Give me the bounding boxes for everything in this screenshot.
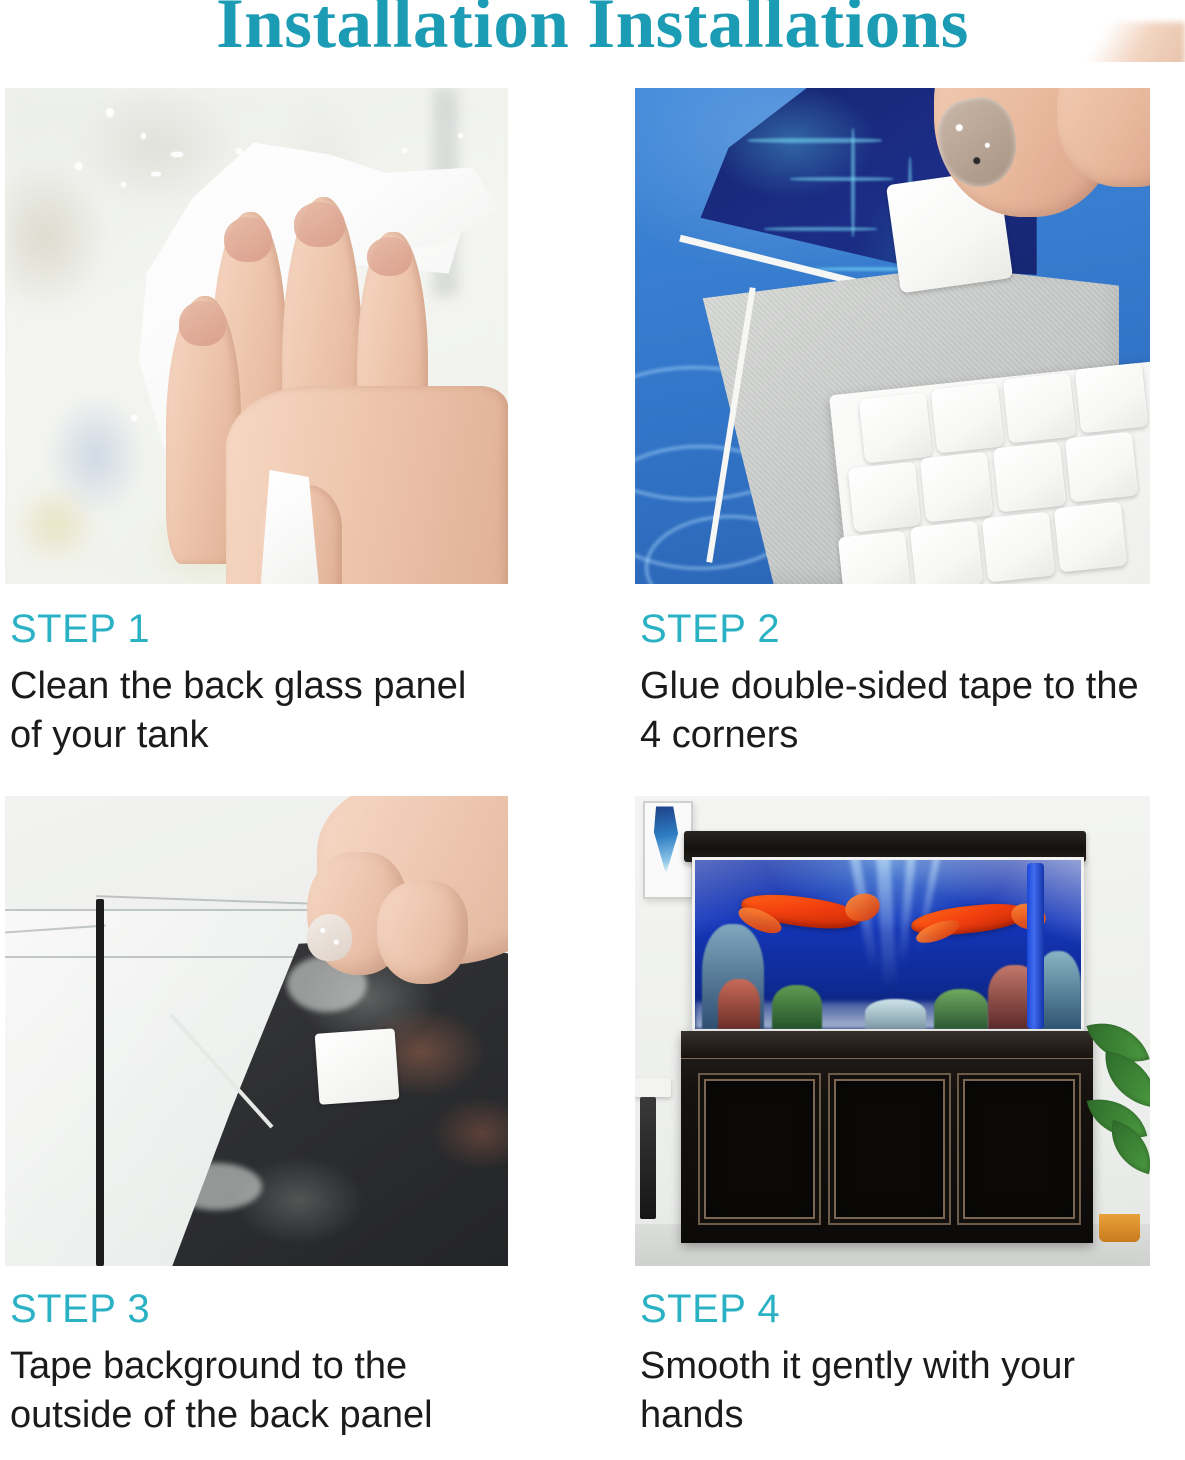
adhesive-pad (920, 452, 993, 523)
tank-waterline (5, 956, 307, 958)
water-droplet (141, 133, 146, 139)
adhesive-pad (1075, 362, 1148, 433)
step-card-4: STEP 4 Smooth it gently with your hands (635, 796, 1150, 1460)
step-1-text: Clean the back glass panel of your tank (10, 662, 502, 759)
poster-highlight (171, 1163, 262, 1210)
cabinet-door (698, 1073, 821, 1225)
coral-decoration (772, 985, 822, 1029)
water-droplet (236, 148, 242, 154)
step-2-caption: STEP 2 Glue double-sided tape to the 4 c… (640, 608, 1144, 759)
step-card-1: STEP 1 Clean the back glass panel of you… (5, 88, 508, 788)
cabinet-top-trim (681, 1031, 1093, 1059)
fingernail (224, 217, 272, 262)
step-card-2: STEP 2 Glue double-sided tape to the 4 c… (635, 88, 1150, 788)
filter-tube (1027, 863, 1044, 1029)
step-4-caption: STEP 4 Smooth it gently with your hands (640, 1288, 1144, 1439)
water-droplet (458, 133, 463, 138)
aquarium-cabinet-stand (681, 1031, 1093, 1243)
tank-corner-trim (96, 899, 104, 1266)
adhesive-pad (931, 382, 1004, 453)
poster-texture (790, 177, 893, 181)
step-3-photo (5, 796, 508, 1266)
adhesive-pad (992, 442, 1065, 513)
aquarium-tank (692, 857, 1084, 1032)
glitter-fingernail (307, 914, 352, 961)
step-2-photo (635, 88, 1150, 584)
step-1-label: STEP 1 (10, 608, 502, 650)
step-4-label: STEP 4 (640, 1288, 1144, 1330)
page-title: Installation Installations (0, 0, 1185, 62)
side-table-top (635, 1078, 671, 1097)
coral-decoration (718, 979, 760, 1030)
adhesive-pad (858, 392, 931, 463)
step-3-label: STEP 3 (10, 1288, 502, 1330)
poster-texture (748, 138, 882, 143)
step-4-text: Smooth it gently with your hands (640, 1342, 1144, 1439)
adhesive-pad (910, 521, 983, 584)
step-4-photo (635, 796, 1150, 1266)
coral-decoration (934, 989, 988, 1030)
decorative-hand-edge (1065, 22, 1185, 62)
water-droplet (402, 148, 407, 153)
step-3-text: Tape background to the outside of the ba… (10, 1342, 502, 1439)
fingernail (294, 202, 344, 247)
step-card-3: STEP 3 Tape background to the outside of… (5, 796, 508, 1460)
houseplant (1088, 1017, 1150, 1186)
water-droplet (106, 108, 114, 117)
adhesive-pad (1054, 501, 1127, 572)
cabinet-door (957, 1073, 1080, 1225)
poster-texture (764, 227, 877, 231)
step-1-photo (5, 88, 508, 584)
step-2-text: Glue double-sided tape to the 4 corners (640, 662, 1144, 759)
step-1-caption: STEP 1 Clean the back glass panel of you… (10, 608, 502, 759)
side-table-leg (640, 1097, 655, 1219)
middle-finger (377, 881, 468, 984)
water-droplet (121, 182, 126, 187)
step-2-label: STEP 2 (640, 608, 1144, 650)
step-3-caption: STEP 3 Tape background to the outside of… (10, 1288, 502, 1439)
fingernail (367, 237, 412, 277)
page-header: Installation Installations (0, 0, 1185, 62)
plant-pot (1099, 1214, 1140, 1242)
adhesive-pad (838, 531, 911, 584)
cabinet-door (828, 1073, 951, 1225)
adhesive-pad (848, 462, 921, 533)
adhesive-pad (982, 511, 1055, 582)
wall-picture-art (651, 806, 678, 874)
double-sided-tape-square (314, 1028, 399, 1104)
coral-decoration (865, 999, 927, 1029)
adhesive-pad (1003, 372, 1076, 443)
adhesive-pad (1064, 432, 1137, 503)
fingernail (179, 301, 227, 346)
